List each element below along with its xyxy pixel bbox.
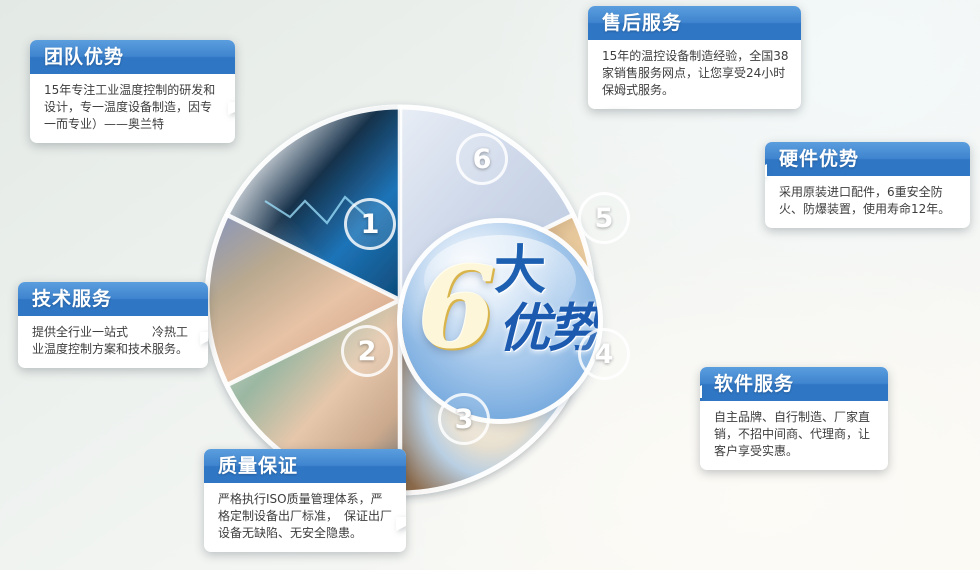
callout-after-sales[interactable]: 售后服务 15年的温控设备制造经验，全国38家销售服务网点，让您享受24小时保姆… <box>588 6 801 109</box>
callout-team-advantage[interactable]: 团队优势 15年专注工业温度控制的研发和设计，专一温度设备制造，因专一而专业）—… <box>30 40 235 143</box>
badge-5[interactable]: 5 <box>578 192 630 244</box>
callout-software-title: 软件服务 <box>700 367 888 401</box>
callout-software-service[interactable]: 软件服务 自主品牌、自行制造、厂家直销，不招中间商、代理商，让客户享受实惠。 <box>700 367 888 470</box>
badge-1[interactable]: 1 <box>344 198 396 250</box>
callout-team-title: 团队优势 <box>30 40 235 74</box>
center-big-char: 大 <box>494 245 546 297</box>
badge-4[interactable]: 4 <box>578 328 630 380</box>
infographic-canvas: 6 大 优势 1 2 3 4 5 6 团队优势 15年专注工业温度控制的研发和设… <box>0 0 980 570</box>
callout-software-tail <box>700 385 702 398</box>
callout-quality-title: 质量保证 <box>204 449 406 483</box>
callout-tech-tail <box>200 332 208 345</box>
callout-technical-service[interactable]: 技术服务 提供全行业一站式 冷热工业温度控制方案和技术服务。 <box>18 282 208 368</box>
callout-tech-title: 技术服务 <box>18 282 208 316</box>
badge-6[interactable]: 6 <box>456 133 508 185</box>
callout-team-body: 15年专注工业温度控制的研发和设计，专一温度设备制造，因专一而专业）——奥兰特 <box>30 74 235 143</box>
badge-3[interactable]: 3 <box>438 393 490 445</box>
callout-quality-assurance[interactable]: 质量保证 严格执行ISO质量管理体系，严格定制设备出厂标准， 保证出厂设备无缺陷… <box>204 449 406 552</box>
center-circle: 6 大 优势 <box>402 223 598 419</box>
center-number: 6 <box>418 253 496 365</box>
callout-hardware-body: 采用原装进口配件，6重安全防火、防爆装置，使用寿命12年。 <box>765 176 970 228</box>
callout-quality-body: 严格执行ISO质量管理体系，严格定制设备出厂标准， 保证出厂设备无缺陷、无安全隐… <box>204 483 406 552</box>
callout-after-sales-title: 售后服务 <box>588 6 801 40</box>
callout-software-body: 自主品牌、自行制造、厂家直销，不招中间商、代理商，让客户享受实惠。 <box>700 401 888 470</box>
callout-hardware-tail <box>765 164 767 177</box>
callout-hardware-advantage[interactable]: 硬件优势 采用原装进口配件，6重安全防火、防爆装置，使用寿命12年。 <box>765 142 970 228</box>
callout-tech-body: 提供全行业一站式 冷热工业温度控制方案和技术服务。 <box>18 316 208 368</box>
callout-team-tail <box>228 102 235 115</box>
callout-quality-tail <box>396 517 406 531</box>
badge-2[interactable]: 2 <box>341 325 393 377</box>
callout-hardware-title: 硬件优势 <box>765 142 970 176</box>
callout-after-sales-body: 15年的温控设备制造经验，全国38家销售服务网点，让您享受24小时保姆式服务。 <box>588 40 801 109</box>
